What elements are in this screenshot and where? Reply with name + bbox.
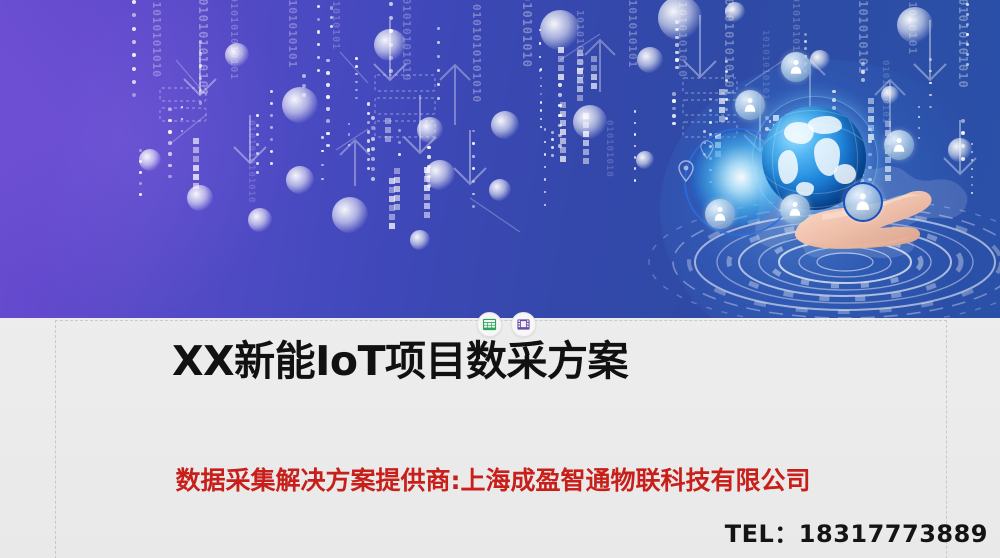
slide-body: XX新能IoT项目数采方案 数据采集解决方案提供商:上海成盈智通物联科技有限公司… <box>0 318 1000 558</box>
person-icon <box>711 205 729 223</box>
person-icon <box>890 136 908 154</box>
insert-media-button[interactable] <box>511 312 536 337</box>
insert-table-button[interactable] <box>477 312 502 337</box>
media-icon <box>516 317 531 332</box>
hero-banner-image: 0101010101010101010101010101010101010101… <box>0 0 1000 318</box>
globe-hand-composition <box>0 0 1000 318</box>
person-badge-lower-left <box>705 199 735 229</box>
table-icon <box>482 317 497 332</box>
content-placeholder-icons <box>477 312 536 337</box>
person-icon <box>852 191 874 213</box>
person-icon <box>741 96 759 114</box>
presentation-slide: 0101010101010101010101010101010101010101… <box>0 0 1000 558</box>
person-badge-upper-left <box>735 90 765 120</box>
person-icon <box>786 200 804 218</box>
map-pin-icon <box>700 140 714 159</box>
slide-subtitle: 数据采集解决方案提供商:上海成盈智通物联科技有限公司 <box>0 461 1000 497</box>
person-badge-right <box>884 130 914 160</box>
page-title: XX新能IoT项目数采方案 <box>0 340 800 383</box>
person-badge-center <box>780 194 810 224</box>
person-badge-accent <box>843 182 883 222</box>
map-pin-icon <box>678 160 694 182</box>
contact-telephone: TEL：18317773889 <box>725 514 988 549</box>
person-badge-top <box>781 52 811 82</box>
person-icon <box>787 58 805 76</box>
